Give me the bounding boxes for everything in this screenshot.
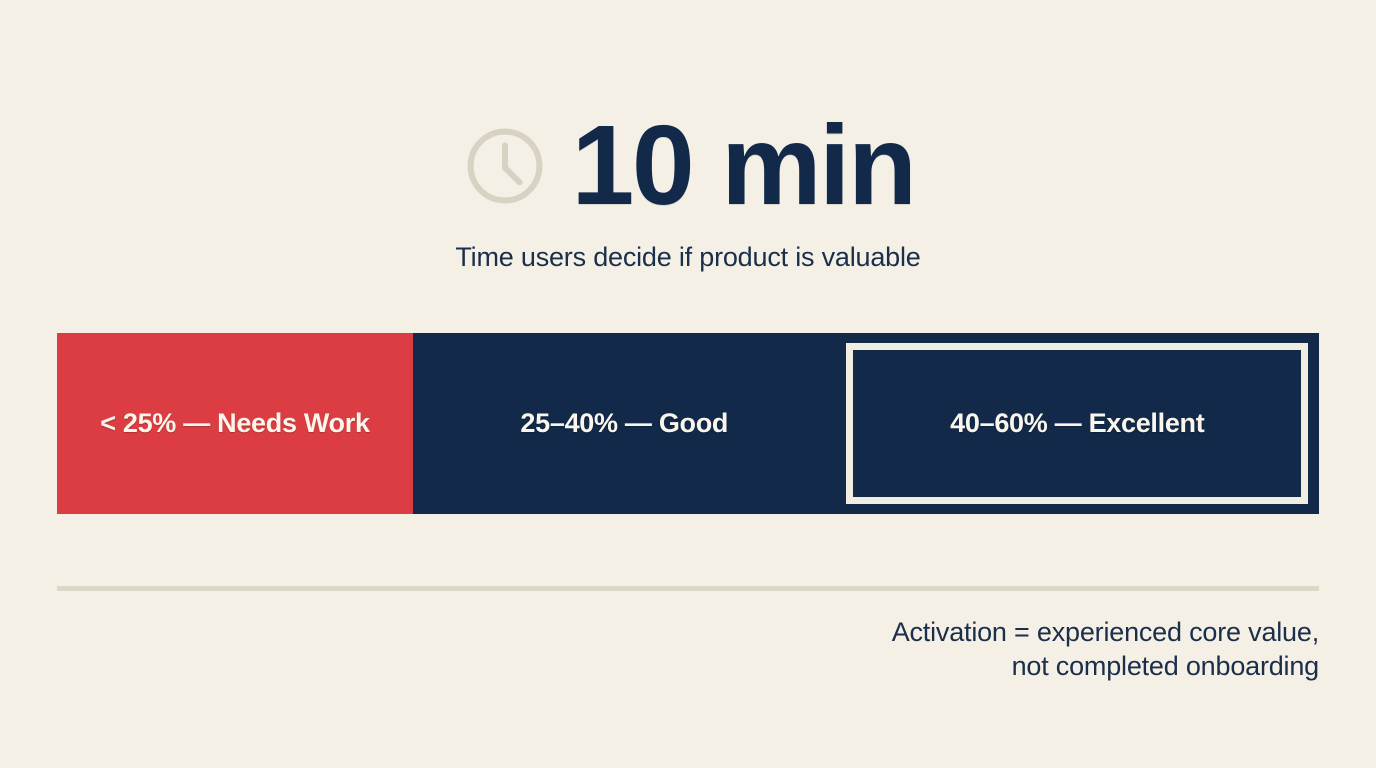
scale-segment-label: 40–60% — Excellent [950,408,1204,439]
scale-segment-label: < 25% — Needs Work [100,408,369,439]
horizontal-divider [57,586,1319,591]
kpi-headline-row: 10 min [462,112,915,220]
scale-segment-needs-work[interactable]: < 25% — Needs Work [57,333,413,514]
benchmark-scale-bar: < 25% — Needs Work 25–40% — Good 40–60% … [57,333,1319,514]
kpi-block: 10 min Time users decide if product is v… [0,112,1376,273]
scale-segment-label: 25–40% — Good [520,408,728,439]
scale-segment-excellent[interactable]: 40–60% — Excellent [836,333,1319,514]
footnote: Activation = experienced core value, not… [559,616,1319,684]
footnote-line-2: not completed onboarding [559,650,1319,684]
kpi-value: 10 min [572,114,915,218]
slide-canvas: 10 min Time users decide if product is v… [0,0,1376,768]
kpi-caption: Time users decide if product is valuable [455,242,920,273]
scale-segment-good[interactable]: 25–40% — Good [413,333,836,514]
clock-icon [462,123,548,209]
footnote-line-1: Activation = experienced core value, [559,616,1319,650]
